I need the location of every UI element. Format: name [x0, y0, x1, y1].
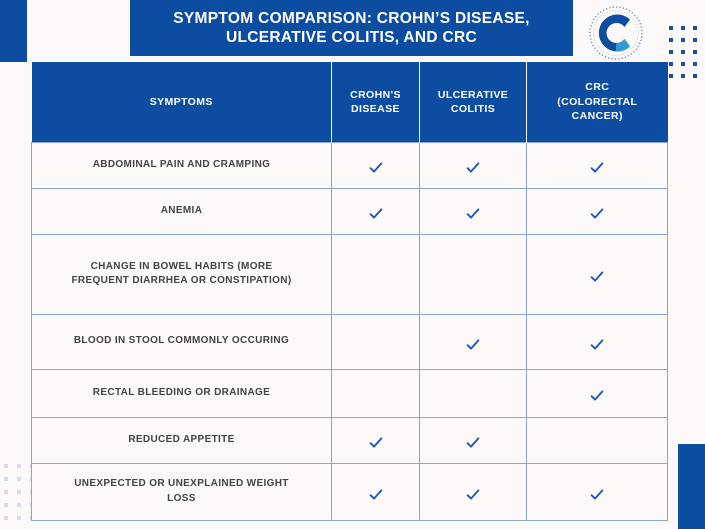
table-row: CHANGE IN BOWEL HABITS (MOREFREQUENT DIA…: [32, 234, 668, 314]
column-header-crohns-disease: CROHN'SDISEASE: [332, 62, 420, 142]
cell-ulcerative-colitis: [420, 234, 527, 314]
cell-crohns-disease: [332, 234, 420, 314]
column-header-line: (COLORECTAL: [557, 96, 637, 108]
symptom-label-line: UNEXPECTED OR UNEXPLAINED WEIGHT: [74, 478, 289, 489]
grid-dot: [4, 464, 8, 468]
page-title-line1: SYMPTOM COMPARISON: CROHN’S DISEASE,: [173, 10, 529, 27]
grid-dot: [4, 503, 8, 507]
symptom-label-line: BLOOD IN STOOL COMMONLY OCCURING: [74, 335, 289, 346]
grid-dot: [669, 74, 673, 78]
grid-dot: [693, 38, 697, 42]
check-icon: [589, 269, 605, 285]
grid-dot: [693, 50, 697, 54]
grid-dot: [4, 490, 8, 494]
column-header-line: COLITIS: [451, 103, 495, 115]
symptom-label-line: CHANGE IN BOWEL HABITS (MORE: [91, 261, 273, 272]
grid-dot: [693, 62, 697, 66]
check-icon: [465, 206, 481, 222]
column-header-line: ULCERATIVE: [438, 89, 508, 101]
column-header-line: DISEASE: [351, 103, 400, 115]
grid-dot: [17, 464, 21, 468]
grid-dot: [17, 503, 21, 507]
grid-dot: [681, 74, 685, 78]
cell-crc: [527, 463, 668, 520]
cell-crohns-disease: [332, 417, 420, 463]
check-icon: [589, 206, 605, 222]
cell-ulcerative-colitis: [420, 142, 527, 188]
check-icon: [465, 160, 481, 176]
symptom-label-line: FREQUENT DIARRHEA OR CONSTIPATION): [71, 275, 291, 286]
cell-crc: [527, 188, 668, 234]
grid-dot: [693, 74, 697, 78]
column-header-symptoms: SYMPTOMS: [32, 62, 332, 142]
grid-dot: [669, 38, 673, 42]
symptom-label: BLOOD IN STOOL COMMONLY OCCURING: [32, 314, 332, 369]
check-icon: [368, 206, 384, 222]
table-row: REDUCED APPETITE: [32, 417, 668, 463]
grid-dot: [669, 50, 673, 54]
table-row: RECTAL BLEEDING OR DRAINAGE: [32, 369, 668, 417]
table-body: ABDOMINAL PAIN AND CRAMPINGANEMIACHANGE …: [32, 142, 668, 520]
table-row: ABDOMINAL PAIN AND CRAMPING: [32, 142, 668, 188]
grid-dot: [693, 26, 697, 30]
check-icon: [589, 388, 605, 404]
check-icon: [589, 487, 605, 503]
symptom-label: ABDOMINAL PAIN AND CRAMPING: [32, 142, 332, 188]
table-row: UNEXPECTED OR UNEXPLAINED WEIGHTLOSS: [32, 463, 668, 520]
decor-dot-grid-topright: [669, 26, 705, 86]
grid-dot: [17, 516, 21, 520]
cell-ulcerative-colitis: [420, 369, 527, 417]
cell-ulcerative-colitis: [420, 188, 527, 234]
symptom-label-line: ABDOMINAL PAIN AND CRAMPING: [93, 159, 271, 170]
column-header-line: CROHN'S: [350, 89, 401, 101]
check-icon: [465, 487, 481, 503]
check-icon: [368, 160, 384, 176]
column-header-line: CRC: [585, 81, 609, 93]
symptom-label-line: ANEMIA: [161, 205, 203, 216]
symptom-label-line: LOSS: [167, 493, 196, 504]
logo-letter-c-accent: [616, 39, 630, 52]
symptom-label: REDUCED APPETITE: [32, 417, 332, 463]
cell-crc: [527, 314, 668, 369]
grid-dot: [17, 490, 21, 494]
page-title-line2: ULCERATIVE COLITIS, AND CRC: [226, 29, 477, 46]
symptom-comparison-table: SYMPTOMS CROHN'SDISEASE ULCERATIVECOLITI…: [31, 62, 668, 521]
check-icon: [368, 487, 384, 503]
column-header-ulcerative-colitis: ULCERATIVECOLITIS: [420, 62, 527, 142]
symptom-label: ANEMIA: [32, 188, 332, 234]
check-icon: [589, 160, 605, 176]
grid-dot: [681, 38, 685, 42]
symptom-label: RECTAL BLEEDING OR DRAINAGE: [32, 369, 332, 417]
grid-dot: [681, 62, 685, 66]
check-icon: [368, 435, 384, 451]
cell-crohns-disease: [332, 142, 420, 188]
grid-dot: [4, 477, 8, 481]
symptom-label-line: RECTAL BLEEDING OR DRAINAGE: [93, 387, 270, 398]
column-header-line: CANCER): [572, 110, 623, 122]
grid-dot: [17, 477, 21, 481]
table-row: BLOOD IN STOOL COMMONLY OCCURING: [32, 314, 668, 369]
cell-ulcerative-colitis: [420, 463, 527, 520]
grid-dot: [669, 62, 673, 66]
check-icon: [589, 337, 605, 353]
symptom-label: UNEXPECTED OR UNEXPLAINED WEIGHTLOSS: [32, 463, 332, 520]
cell-crc: [527, 142, 668, 188]
cell-crc: [527, 234, 668, 314]
cell-crc: [527, 417, 668, 463]
decor-right-blue-bar: [678, 444, 705, 529]
cell-crohns-disease: [332, 314, 420, 369]
colon-cancer-foundation-logo: [586, 3, 646, 63]
cell-crc: [527, 369, 668, 417]
check-icon: [465, 337, 481, 353]
symptom-label: CHANGE IN BOWEL HABITS (MOREFREQUENT DIA…: [32, 234, 332, 314]
cell-crohns-disease: [332, 463, 420, 520]
table-header-row: SYMPTOMS CROHN'SDISEASE ULCERATIVECOLITI…: [32, 62, 668, 142]
cell-crohns-disease: [332, 369, 420, 417]
cell-ulcerative-colitis: [420, 314, 527, 369]
check-icon: [465, 435, 481, 451]
decor-left-blue-bar: [0, 0, 27, 62]
table-row: ANEMIA: [32, 188, 668, 234]
symptom-label-line: REDUCED APPETITE: [128, 434, 234, 445]
grid-dot: [681, 26, 685, 30]
column-header-crc: CRC(COLORECTALCANCER): [527, 62, 668, 142]
grid-dot: [4, 516, 8, 520]
cell-ulcerative-colitis: [420, 417, 527, 463]
column-header-line: SYMPTOMS: [150, 96, 213, 108]
grid-dot: [681, 50, 685, 54]
page-title-banner: SYMPTOM COMPARISON: CROHN’S DISEASE, ULC…: [130, 0, 573, 56]
grid-dot: [669, 26, 673, 30]
cell-crohns-disease: [332, 188, 420, 234]
